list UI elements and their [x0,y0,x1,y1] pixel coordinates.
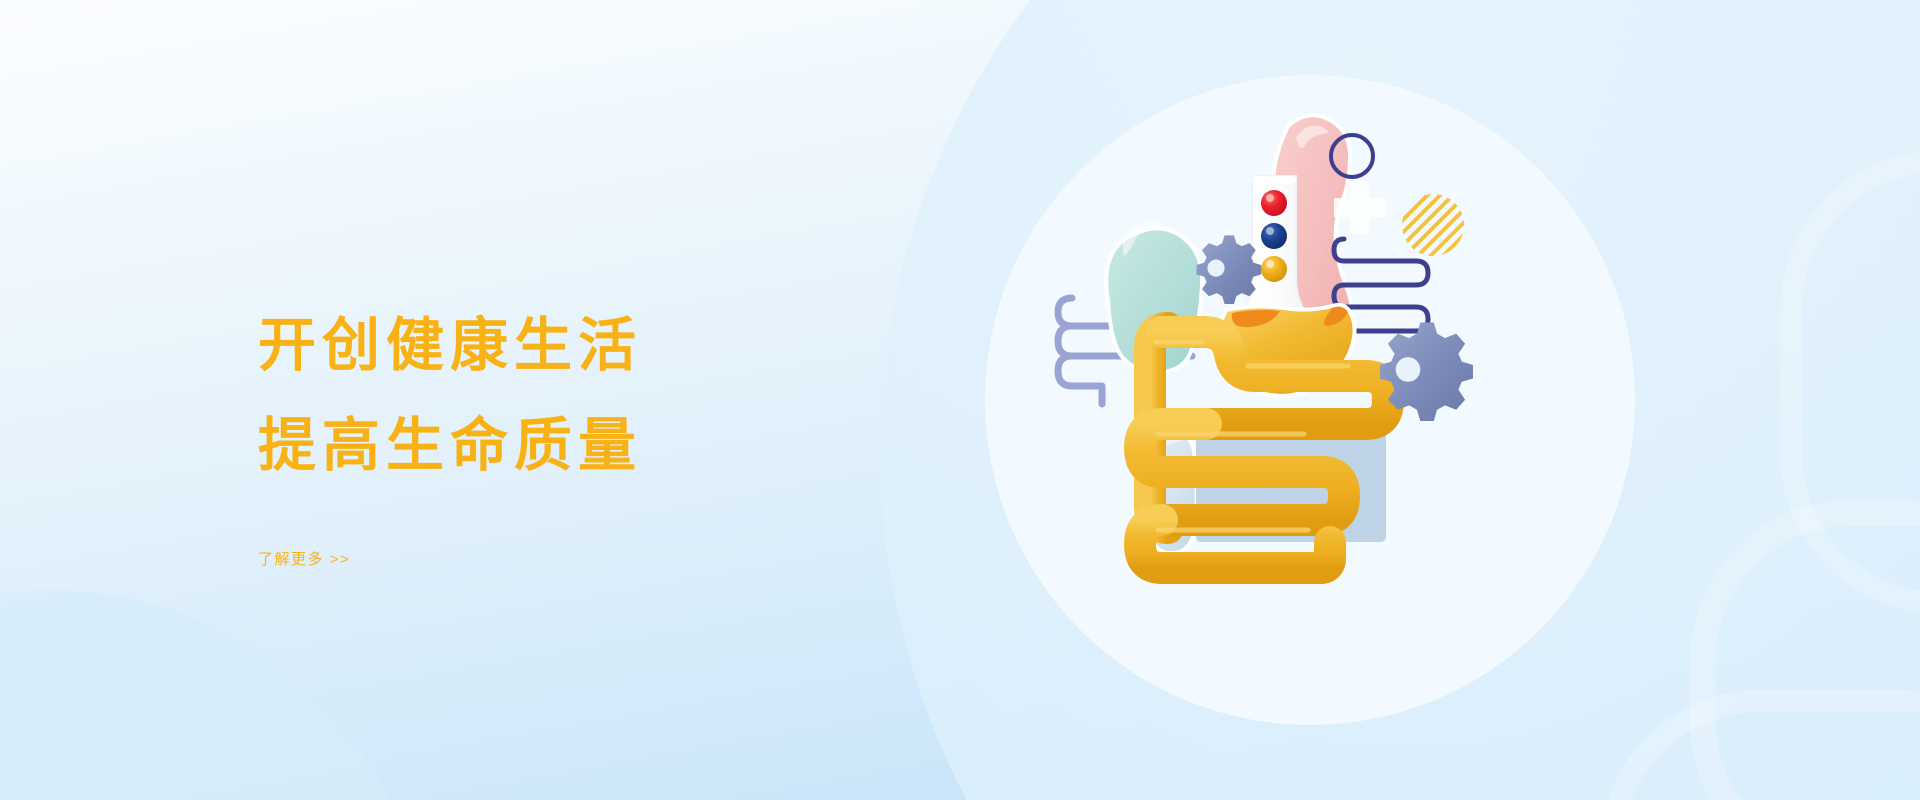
background-circle-left [0,590,430,800]
striped-circle [1393,185,1473,265]
hero-banner: 开创健康生活 提高生命质量 了解更多 >> [0,0,1920,800]
sample-dot-red [1261,190,1287,216]
sample-dot-navy [1261,223,1287,249]
headline-line-2: 提高生命质量 [258,396,878,496]
gear-small-icon [1197,235,1262,304]
background-rounded-rect-2 [1780,150,1920,614]
learn-more-link[interactable]: 了解更多 >> [258,548,350,569]
hero-copy-block: 开创健康生活 提高生命质量 了解更多 >> [258,296,878,569]
digestive-system-illustration [1050,60,1610,680]
sample-dot-yellow [1261,256,1287,282]
background-rounded-rect-3 [1600,690,1920,800]
headline-line-1: 开创健康生活 [258,296,878,396]
background-rounded-rect-1 [1690,500,1920,800]
